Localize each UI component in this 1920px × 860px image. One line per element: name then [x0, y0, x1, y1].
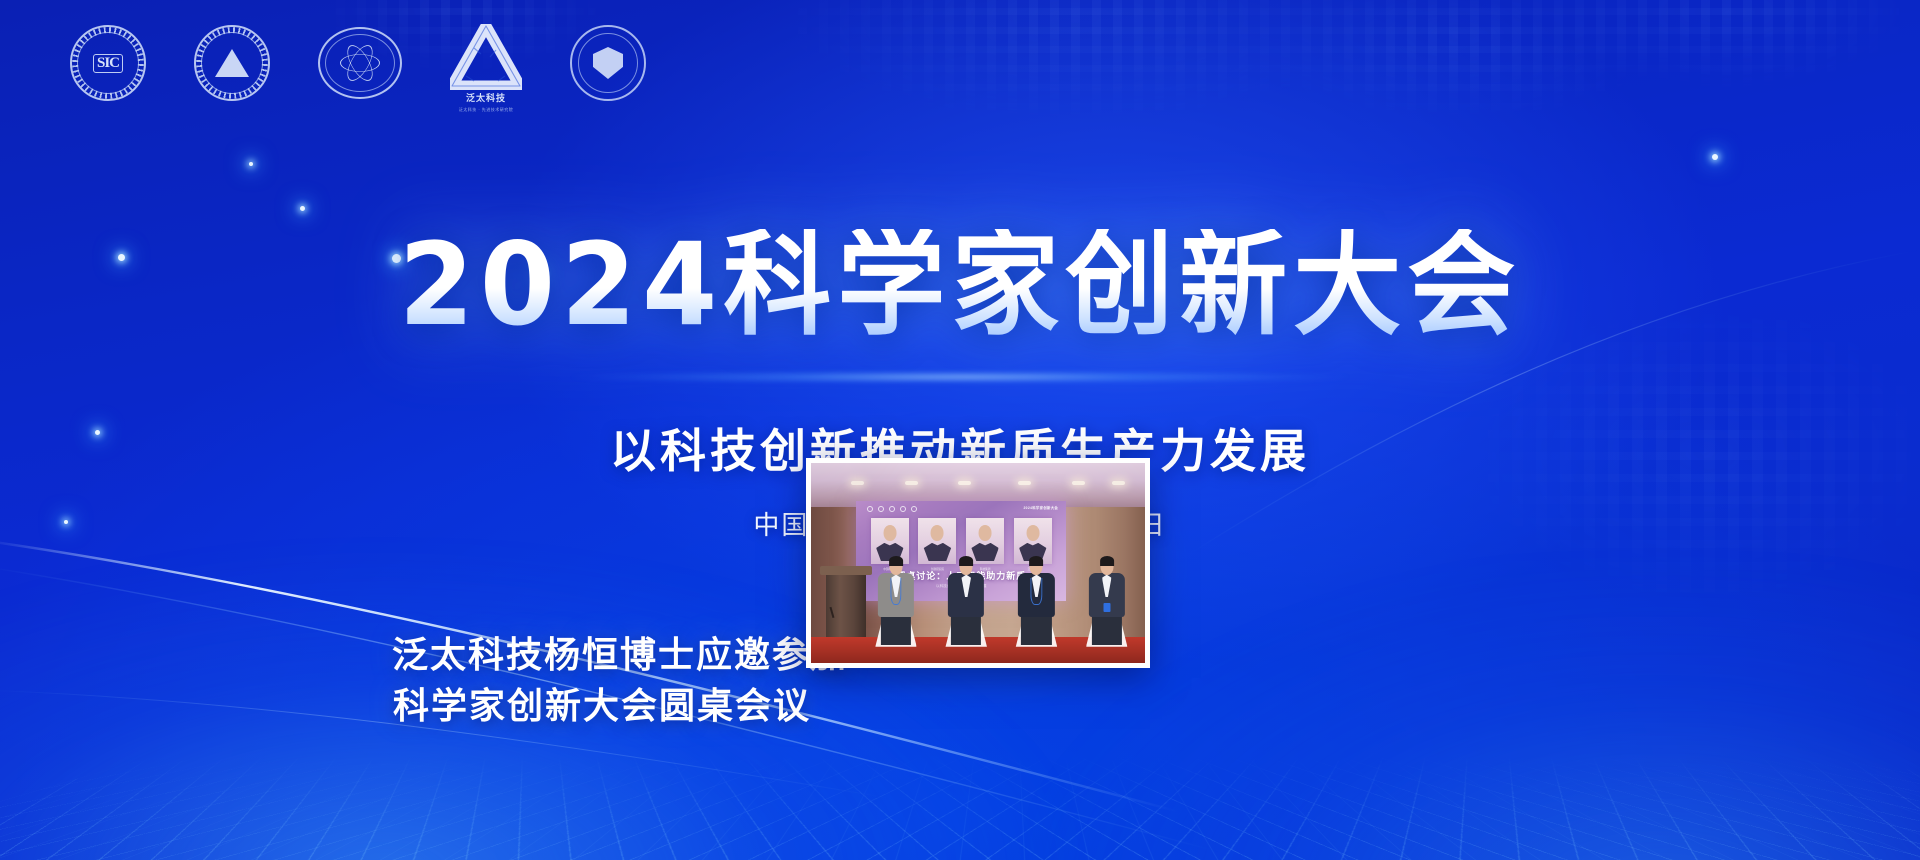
screen-dot-icon [900, 506, 906, 512]
title-block: 2024科学家创新大会 [0, 232, 1920, 340]
sparkle-star [300, 206, 305, 211]
brand-name-label: 泛太科技 [466, 91, 506, 104]
brand-triangle-icon: 泛太科技 泛太科技 · 先进技术研究院 [450, 24, 522, 102]
page-title: 2024科学家创新大会 [399, 229, 1522, 343]
event-photo-inner: 2024科学家创新大会 中国科学院 创新研究院 科技集团 [811, 463, 1145, 663]
caption-line-2: 科学家创新大会圆桌会议 [392, 681, 812, 732]
brand-tagline-label: 泛太科技 · 先进技术研究院 [459, 107, 514, 113]
title-underglow [570, 372, 1350, 382]
logo-seal-shield [570, 25, 646, 101]
event-photo: 2024科学家创新大会 中国科学院 创新研究院 科技集团 [806, 458, 1150, 668]
seated-person [1085, 557, 1128, 645]
poster-caption: 泛太科技杨恒博士应邀参加 科学家创新大会圆桌会议 [392, 630, 812, 732]
seal-atom-icon [318, 27, 402, 99]
network-mesh-grid [0, 742, 1920, 860]
screen-dot-icon [878, 506, 884, 512]
seated-person [874, 557, 917, 645]
digital-data-blocks-secondary-icon [1152, 300, 1920, 680]
screen-dot-icon [911, 506, 917, 512]
sparkle-star [1712, 154, 1718, 160]
seal-triangle-icon [194, 25, 270, 101]
seated-person [1015, 557, 1058, 645]
organizer-logo-row: SIC [70, 24, 646, 102]
microphone-icon [829, 607, 834, 618]
screen-dot-icon [889, 506, 895, 512]
screen-icon-row [867, 506, 917, 512]
seated-panelists [874, 557, 1128, 645]
screen-dot-icon [867, 506, 873, 512]
triangle-mark-icon [215, 49, 249, 77]
logo-brand-triangle: 泛太科技 泛太科技 · 先进技术研究院 [450, 24, 522, 102]
conference-poster: SIC [0, 0, 1920, 860]
seal-sic-label: SIC [93, 54, 123, 73]
seated-person [945, 557, 988, 645]
atom-orbit-icon [340, 46, 380, 80]
seal-shield-icon [570, 25, 646, 101]
shield-mark-icon [593, 47, 623, 79]
sparkle-star [249, 162, 253, 166]
seal-sic-icon: SIC [70, 25, 146, 101]
screen-header-label: 2024科学家创新大会 [1024, 505, 1059, 510]
caption-line-1: 泛太科技杨恒博士应邀参加 [392, 630, 812, 681]
logo-seal-triangle [194, 25, 270, 101]
logo-seal-sic: SIC [70, 25, 146, 101]
logo-seal-atom [318, 27, 402, 99]
